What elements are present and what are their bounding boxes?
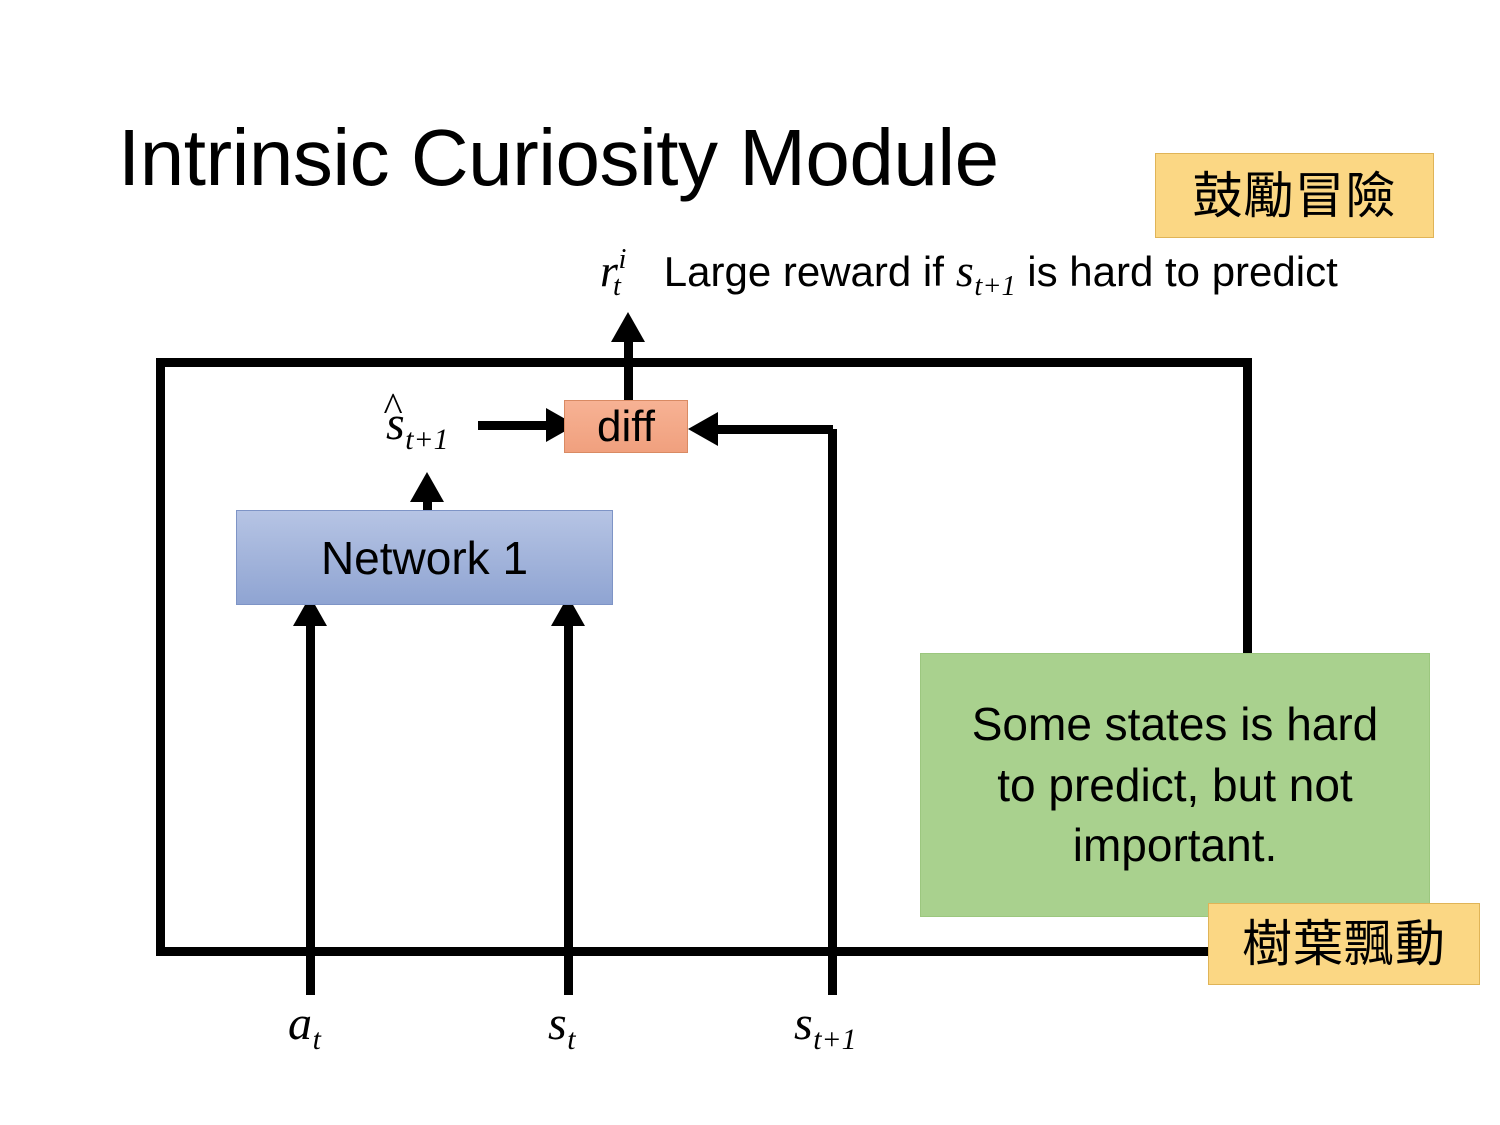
note-box-text: Some states is hard to predict, but not … — [972, 694, 1379, 876]
intrinsic-reward-arrowhead — [611, 312, 645, 342]
badge-encourage-adventure-label: 鼓勵冒險 — [1193, 171, 1397, 221]
frame-right-edge — [1243, 358, 1252, 658]
note-line-2: to predict, but not — [972, 755, 1379, 816]
next-state-input-line — [828, 429, 837, 995]
caption-text-after: is hard to predict — [1027, 251, 1338, 293]
slide-canvas: Intrinsic Curiosity Module 鼓勵冒險 樹葉飄動 rit… — [0, 0, 1500, 1125]
frame-bottom-edge — [156, 947, 1266, 956]
badge-leaves-fluttering: 樹葉飄動 — [1208, 903, 1480, 985]
note-box: Some states is hard to predict, but not … — [920, 653, 1430, 917]
network1-box[interactable]: Network 1 — [236, 510, 613, 605]
next-state-to-diff-arrowhead — [688, 412, 718, 446]
diff-box[interactable]: diff — [564, 400, 688, 453]
frame-top-edge — [156, 358, 1252, 367]
predicted-state-label: ^st+1 — [386, 400, 448, 448]
action-label: at — [288, 1000, 320, 1048]
state-label: st — [548, 1000, 575, 1048]
reward-symbol: rit — [600, 248, 634, 294]
reward-caption: rit Large reward if st+1 is hard to pred… — [600, 248, 1338, 314]
network-output-arrowhead — [410, 472, 444, 502]
network1-box-label: Network 1 — [321, 531, 528, 585]
caption-state-symbol: st+1 — [956, 248, 1015, 294]
note-line-1: Some states is hard — [972, 694, 1379, 755]
caption-text-before: Large reward if — [664, 251, 944, 293]
predicted-state-to-diff-line — [478, 421, 553, 430]
badge-encourage-adventure: 鼓勵冒險 — [1155, 153, 1434, 238]
note-line-3: important. — [972, 815, 1379, 876]
state-input-line — [564, 608, 573, 995]
next-state-to-diff-line — [700, 425, 833, 434]
next-state-label: st+1 — [794, 1000, 856, 1048]
hat-accent-icon: ^ — [383, 388, 402, 429]
page-title: Intrinsic Curiosity Module — [118, 118, 999, 198]
action-input-line — [306, 608, 315, 995]
frame-left-edge — [156, 358, 165, 956]
badge-leaves-fluttering-label: 樹葉飄動 — [1242, 919, 1446, 969]
diff-box-label: diff — [597, 402, 655, 452]
